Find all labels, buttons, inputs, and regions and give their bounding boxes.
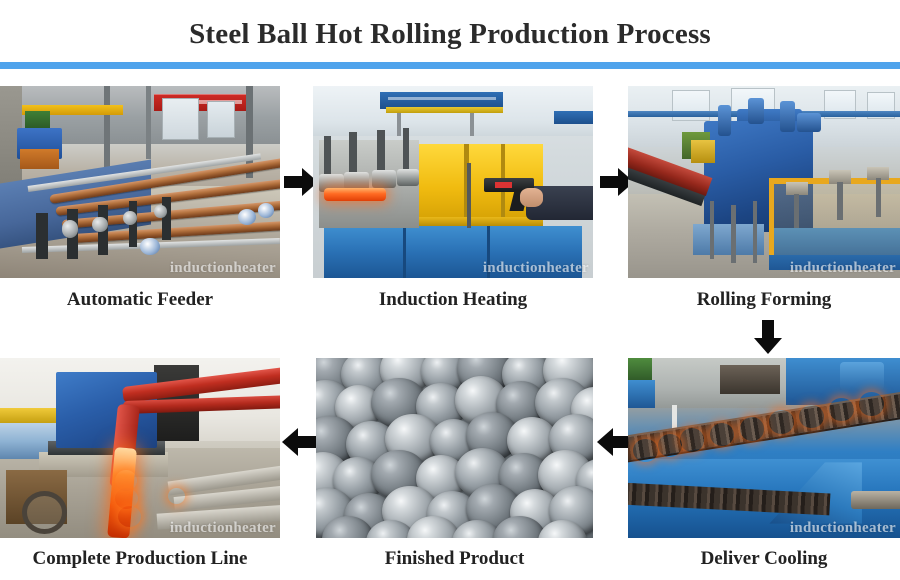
step-5-photo [316, 358, 593, 538]
page-title: Steel Ball Hot Rolling Production Proces… [0, 18, 900, 51]
step-6-photo: inductionheater [628, 358, 900, 538]
step-3-caption: Rolling Forming [628, 289, 900, 311]
step-5-caption: Finished Product [316, 548, 593, 570]
step-6-caption: Deliver Cooling [628, 548, 900, 570]
arrow-left-icon-step6-to-step5 [597, 428, 631, 456]
arrow-left-icon-step5-to-step4 [282, 428, 316, 456]
infographic-page: Steel Ball Hot Rolling Production Proces… [0, 0, 900, 580]
step-2-caption: Induction Heating [313, 289, 593, 311]
arrow-down-icon-step3-to-step4 [754, 320, 782, 354]
step-4-caption: Complete Production Line [0, 548, 280, 570]
title-divider [0, 62, 900, 69]
step-4-photo: inductionheater [0, 358, 280, 538]
step-2-photo: inductionheater [313, 86, 593, 278]
step-1-photo: inductionheater [0, 86, 280, 278]
step-3-photo: inductionheater [628, 86, 900, 278]
step-1-caption: Automatic Feeder [0, 289, 280, 311]
